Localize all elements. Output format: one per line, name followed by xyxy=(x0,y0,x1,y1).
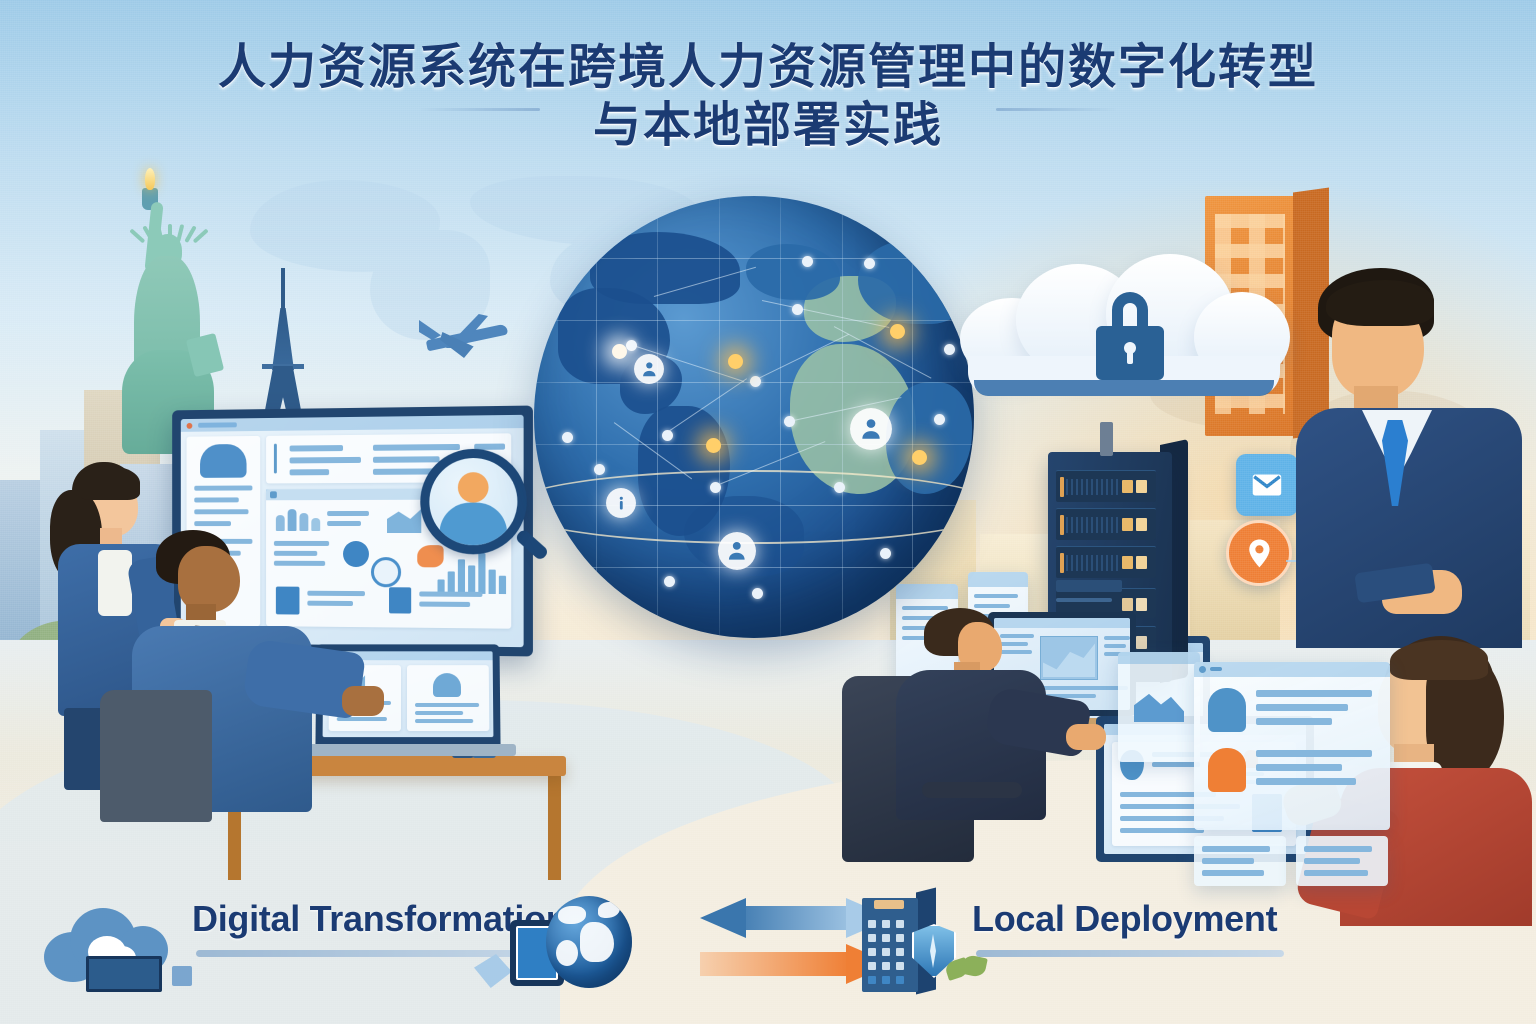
user-badge-icon xyxy=(634,354,664,384)
cursor-icon xyxy=(474,954,512,988)
title-line-1: 人力资源系统在跨境人力资源管理中的数字化转型 xyxy=(0,42,1536,94)
network-hotspot xyxy=(912,450,927,465)
network-globe xyxy=(534,196,974,638)
chair-armrest xyxy=(922,782,1022,798)
title-rule-right xyxy=(996,108,1116,111)
right-underline xyxy=(976,950,1284,957)
avatar xyxy=(1208,688,1246,732)
local-deployment-label: Local Deployment xyxy=(972,898,1277,940)
employee-profile-panel[interactable] xyxy=(1194,662,1390,830)
padlock-icon xyxy=(1096,292,1164,380)
badge-card-icon xyxy=(389,587,411,613)
airplane-icon xyxy=(418,306,514,364)
thumbnail-panel[interactable] xyxy=(1118,652,1200,762)
avatar xyxy=(433,673,461,697)
image-placeholder-icon xyxy=(1134,684,1184,722)
bar-chart xyxy=(438,551,507,594)
secure-cloud xyxy=(956,248,1292,416)
businessman-tablet xyxy=(1276,268,1536,648)
poster-canvas: Digital Transformation xyxy=(0,0,1536,1024)
trend-icon xyxy=(387,507,421,533)
seated-man-laptop xyxy=(126,522,386,822)
user-badge-icon xyxy=(718,532,756,570)
magnifier-icon[interactable] xyxy=(420,448,526,554)
network-hotspot xyxy=(728,354,743,369)
orbit-ring xyxy=(534,470,974,544)
network-hotspot xyxy=(612,344,627,359)
user-badge-icon xyxy=(850,408,892,450)
avatar xyxy=(200,444,247,478)
cloud-icon xyxy=(44,904,176,982)
globe-icon xyxy=(546,896,632,988)
title-rule-left xyxy=(420,108,540,111)
seated-man-dark-suit xyxy=(880,608,1100,868)
network-hotspot xyxy=(706,438,721,453)
poster-title: 人力资源系统在跨境人力资源管理中的数字化转型 与本地部署实践 xyxy=(0,42,1536,111)
avatar xyxy=(1208,748,1246,792)
network-hotspot xyxy=(890,324,905,339)
info-badge-icon xyxy=(606,488,636,518)
leaf-icon xyxy=(946,954,992,982)
statue-of-liberty-icon xyxy=(108,160,228,450)
bottom-banner: Digital Transformation xyxy=(0,858,1536,1024)
